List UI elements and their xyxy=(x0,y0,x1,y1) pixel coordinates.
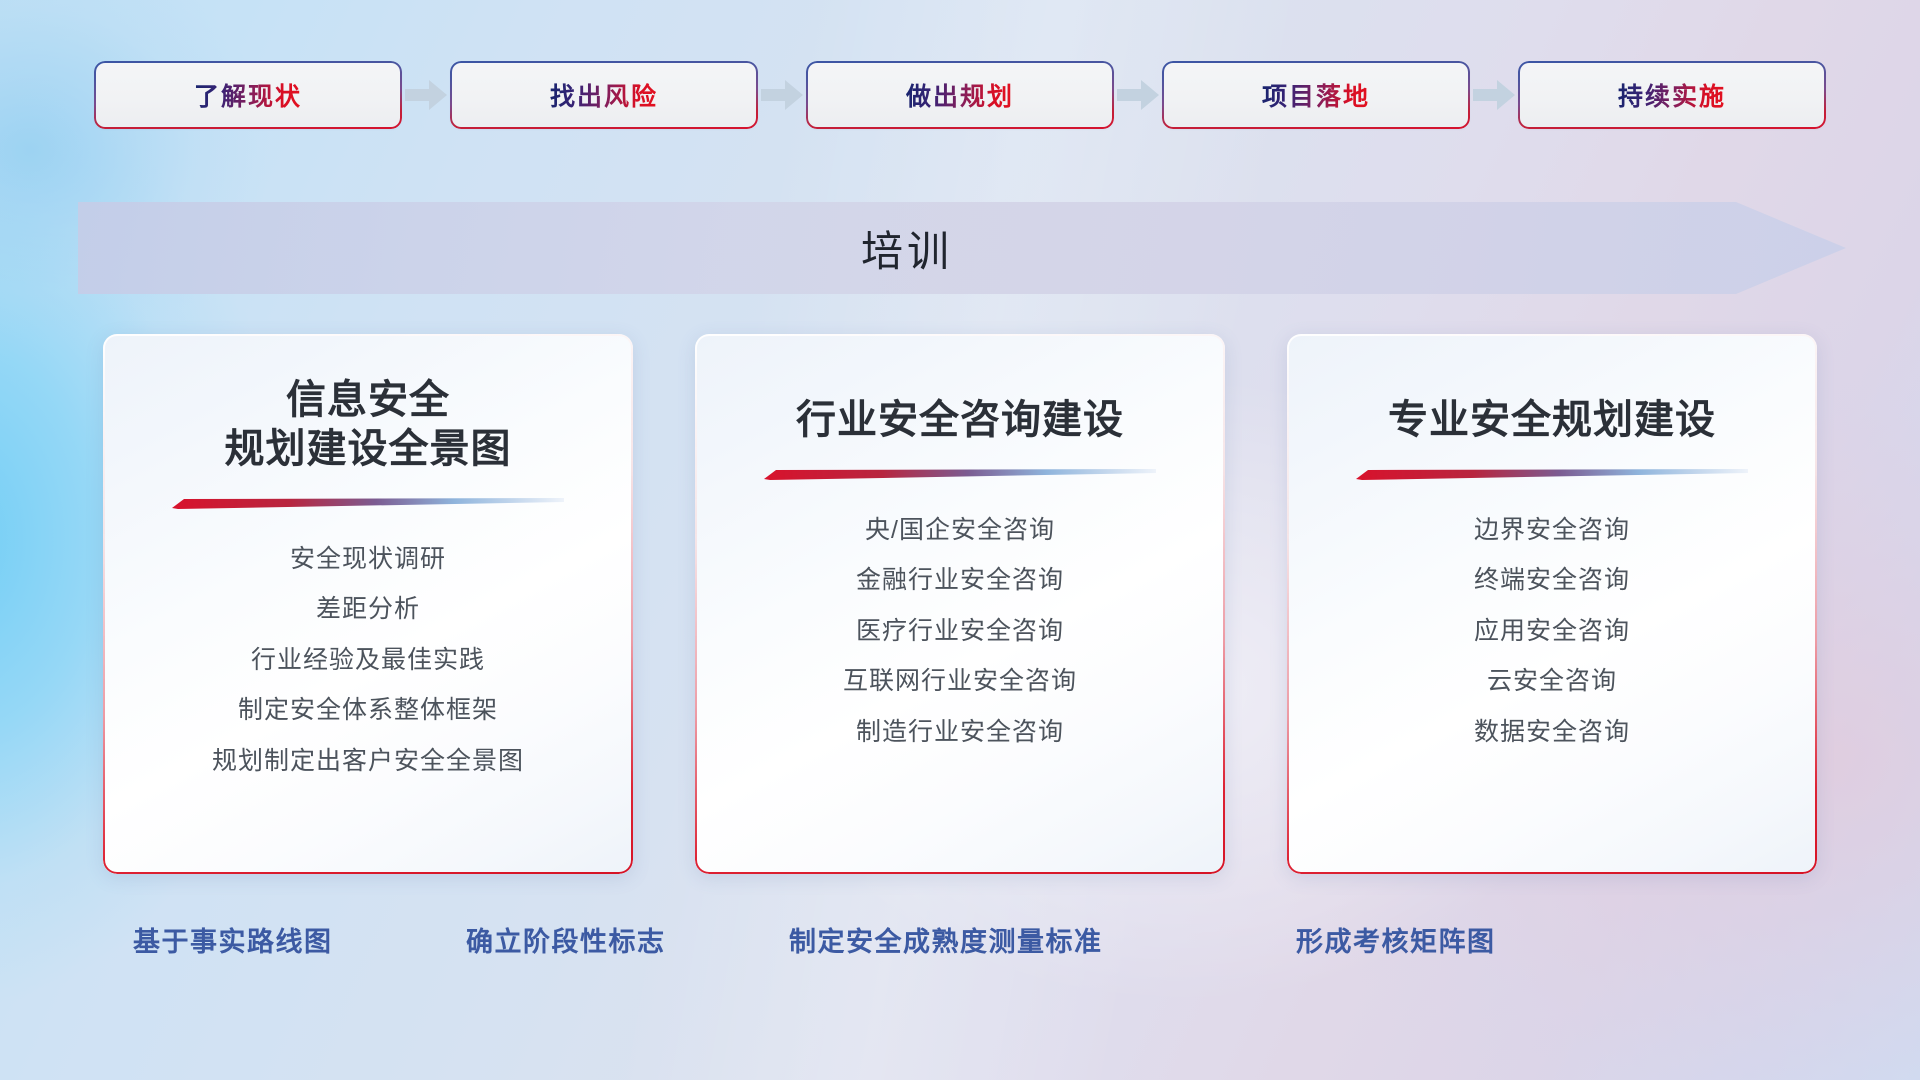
card-title: 行业安全咨询建设 xyxy=(796,396,1124,445)
banner-title: 培训 xyxy=(78,202,1846,294)
card-item-list: 边界安全咨询 终端安全咨询 应用安全咨询 云安全咨询 数据安全咨询 xyxy=(1287,510,1817,753)
bottom-label-row: 基于事实路线图 确立阶段性标志 制定安全成熟度测量标准 形成考核矩阵图 xyxy=(0,920,1920,976)
list-item: 终端安全咨询 xyxy=(1474,560,1630,601)
list-item: 规划制定出客户安全全景图 xyxy=(212,741,524,782)
card-item-list: 安全现状调研 差距分析 行业经验及最佳实践 制定安全体系整体框架 规划制定出客户… xyxy=(103,539,633,782)
step-box-1[interactable]: 了解现状 xyxy=(96,63,400,127)
card-professional-security-planning[interactable]: 专业安全规划建设 边界安全咨询 终端安全咨询 应用安全咨询 云安全咨询 数据安全… xyxy=(1287,334,1817,874)
training-banner: 培训 xyxy=(78,202,1846,294)
card-row: 信息安全 规划建设全景图 安全现状调研 差距分析 行业经验及最佳实践 制定安全体… xyxy=(0,334,1920,874)
list-item: 行业经验及最佳实践 xyxy=(251,640,485,681)
step-label: 项目落地 xyxy=(1262,77,1370,113)
list-item: 央/国企安全咨询 xyxy=(865,510,1055,551)
bottom-label-milestones: 确立阶段性标志 xyxy=(466,920,666,959)
card-title: 信息安全 规划建设全景图 xyxy=(225,376,512,474)
red-gradient-divider xyxy=(764,469,1156,480)
step-box-4[interactable]: 项目落地 xyxy=(1164,63,1468,127)
list-item: 制造行业安全咨询 xyxy=(856,712,1064,753)
step-label: 找出风险 xyxy=(550,77,658,113)
list-item: 互联网行业安全咨询 xyxy=(843,661,1077,702)
list-item: 制定安全体系整体框架 xyxy=(238,690,498,731)
bottom-label-roadmap: 基于事实路线图 xyxy=(133,920,333,959)
list-item: 医疗行业安全咨询 xyxy=(856,611,1064,652)
arrow-right-icon xyxy=(1112,63,1164,127)
card-industry-security-consulting[interactable]: 行业安全咨询建设 央/国企安全咨询 金融行业安全咨询 医疗行业安全咨询 互联网行… xyxy=(695,334,1225,874)
step-flow: 了解现状 找出风险 做出规划 项目落地 持续实施 xyxy=(0,62,1920,128)
list-item: 安全现状调研 xyxy=(290,539,446,580)
arrow-right-icon xyxy=(756,63,808,127)
card-item-list: 央/国企安全咨询 金融行业安全咨询 医疗行业安全咨询 互联网行业安全咨询 制造行… xyxy=(695,510,1225,753)
step-box-3[interactable]: 做出规划 xyxy=(808,63,1112,127)
red-gradient-divider xyxy=(172,498,564,509)
list-item: 金融行业安全咨询 xyxy=(856,560,1064,601)
step-label: 持续实施 xyxy=(1618,77,1726,113)
list-item: 差距分析 xyxy=(316,589,420,630)
card-information-security-blueprint[interactable]: 信息安全 规划建设全景图 安全现状调研 差距分析 行业经验及最佳实践 制定安全体… xyxy=(103,334,633,874)
arrow-right-icon xyxy=(1468,63,1520,127)
card-title: 专业安全规划建设 xyxy=(1388,396,1716,445)
step-box-2[interactable]: 找出风险 xyxy=(452,63,756,127)
list-item: 应用安全咨询 xyxy=(1474,611,1630,652)
arrow-right-icon xyxy=(400,63,452,127)
red-gradient-divider xyxy=(1356,469,1748,480)
list-item: 云安全咨询 xyxy=(1487,661,1617,702)
bottom-label-maturity: 制定安全成熟度测量标准 xyxy=(789,920,1103,959)
step-box-5[interactable]: 持续实施 xyxy=(1520,63,1824,127)
bottom-label-matrix: 形成考核矩阵图 xyxy=(1296,920,1496,959)
list-item: 边界安全咨询 xyxy=(1474,510,1630,551)
list-item: 数据安全咨询 xyxy=(1474,712,1630,753)
step-label: 做出规划 xyxy=(906,77,1014,113)
step-label: 了解现状 xyxy=(194,77,302,113)
